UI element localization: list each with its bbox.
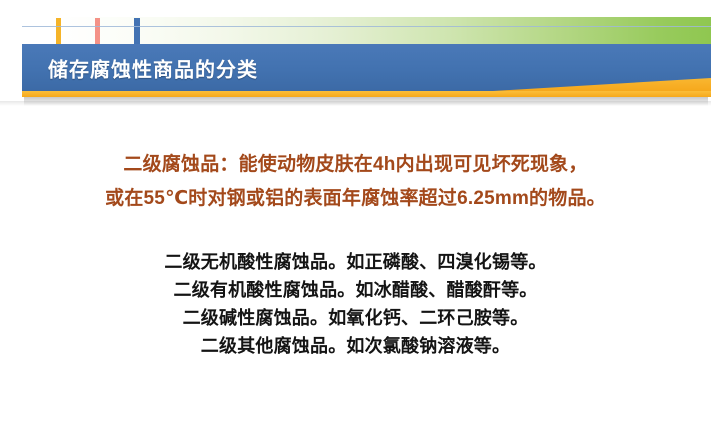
slide-root: 储存腐蚀性商品的分类 二级腐蚀品：能使动物皮肤在4h内出现可见坏死现象， 或在5… xyxy=(0,0,711,429)
definition-paragraph: 二级腐蚀品：能使动物皮肤在4h内出现可见坏死现象， 或在55℃时对钢或铝的表面年… xyxy=(0,148,711,216)
accent-tick-blue xyxy=(134,18,140,44)
list-item: 二级有机酸性腐蚀品。如冰醋酸、醋酸酐等。 xyxy=(0,276,711,304)
top-decorative-band xyxy=(0,17,711,44)
band-rule xyxy=(22,26,711,27)
list-item: 二级其他腐蚀品。如次氯酸钠溶液等。 xyxy=(0,332,711,360)
accent-tick-orange xyxy=(56,18,61,44)
title-underline-shadow-outer xyxy=(0,101,711,106)
orange-wedge xyxy=(471,78,711,91)
definition-line-1: 二级腐蚀品：能使动物皮肤在4h内出现可见坏死现象， xyxy=(0,148,711,182)
classification-list: 二级无机酸性腐蚀品。如正磷酸、四溴化锡等。 二级有机酸性腐蚀品。如冰醋酸、醋酸酐… xyxy=(0,248,711,360)
list-item: 二级碱性腐蚀品。如氧化钙、二环己胺等。 xyxy=(0,304,711,332)
page-title: 储存腐蚀性商品的分类 xyxy=(48,53,258,82)
definition-line-2: 或在55℃时对钢或铝的表面年腐蚀率超过6.25mm的物品。 xyxy=(0,182,711,216)
list-item: 二级无机酸性腐蚀品。如正磷酸、四溴化锡等。 xyxy=(0,248,711,276)
accent-tick-pink xyxy=(95,18,100,44)
title-bar: 储存腐蚀性商品的分类 xyxy=(22,44,711,91)
green-gradient-strip xyxy=(55,17,711,44)
